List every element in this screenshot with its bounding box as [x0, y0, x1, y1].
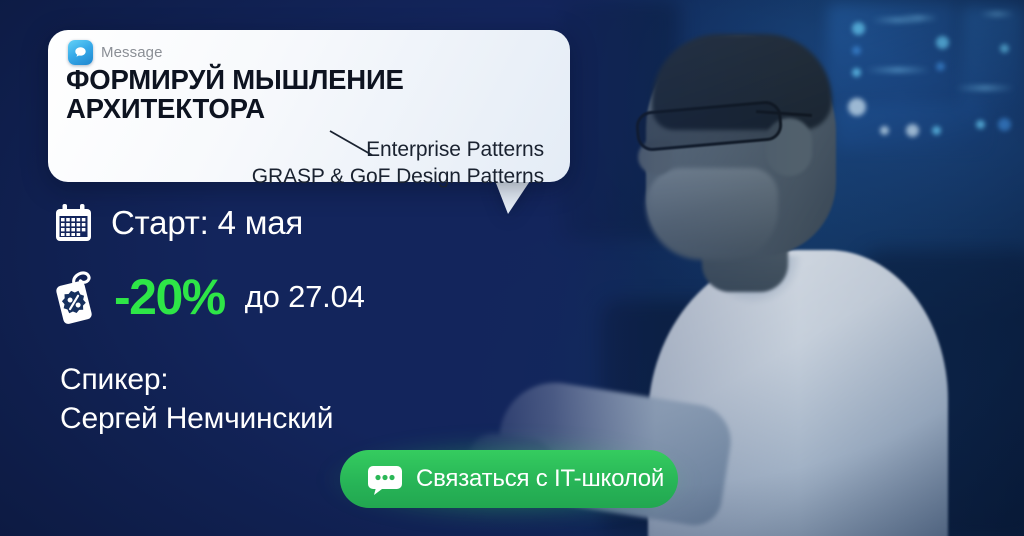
- message-card-header: Message: [68, 40, 163, 65]
- headline: ФОРМИРУЙ МЫШЛЕНИЕ АРХИТЕКТОРА: [66, 66, 404, 123]
- contact-school-button[interactable]: Связаться с IT-школой: [340, 450, 678, 508]
- discount-deadline: до 27.04: [245, 279, 365, 315]
- discount-row: -20% до 27.04: [54, 268, 365, 326]
- price-tag-percent-icon: [54, 268, 102, 326]
- chat-dots-icon: [368, 464, 402, 495]
- start-date-text: Старт: 4 мая: [111, 204, 303, 242]
- promo-banner: Message ФОРМИРУЙ МЫШЛЕНИЕ АРХИТЕКТОРА En…: [0, 0, 1024, 536]
- subtitle: Enterprise Patterns GRASP & GoF Design P…: [252, 136, 544, 191]
- start-date-row: Старт: 4 мая: [54, 203, 303, 243]
- message-bubble-icon: [68, 40, 93, 65]
- contact-school-label: Связаться с IT-школой: [416, 465, 664, 493]
- speaker-text: Спикер: Сергей Немчинский: [60, 360, 333, 438]
- discount-percent: -20%: [114, 272, 225, 322]
- calendar-icon: [54, 203, 93, 243]
- message-app-label: Message: [101, 44, 163, 61]
- message-card: Message ФОРМИРУЙ МЫШЛЕНИЕ АРХИТЕКТОРА En…: [48, 30, 570, 182]
- beard: [646, 168, 778, 260]
